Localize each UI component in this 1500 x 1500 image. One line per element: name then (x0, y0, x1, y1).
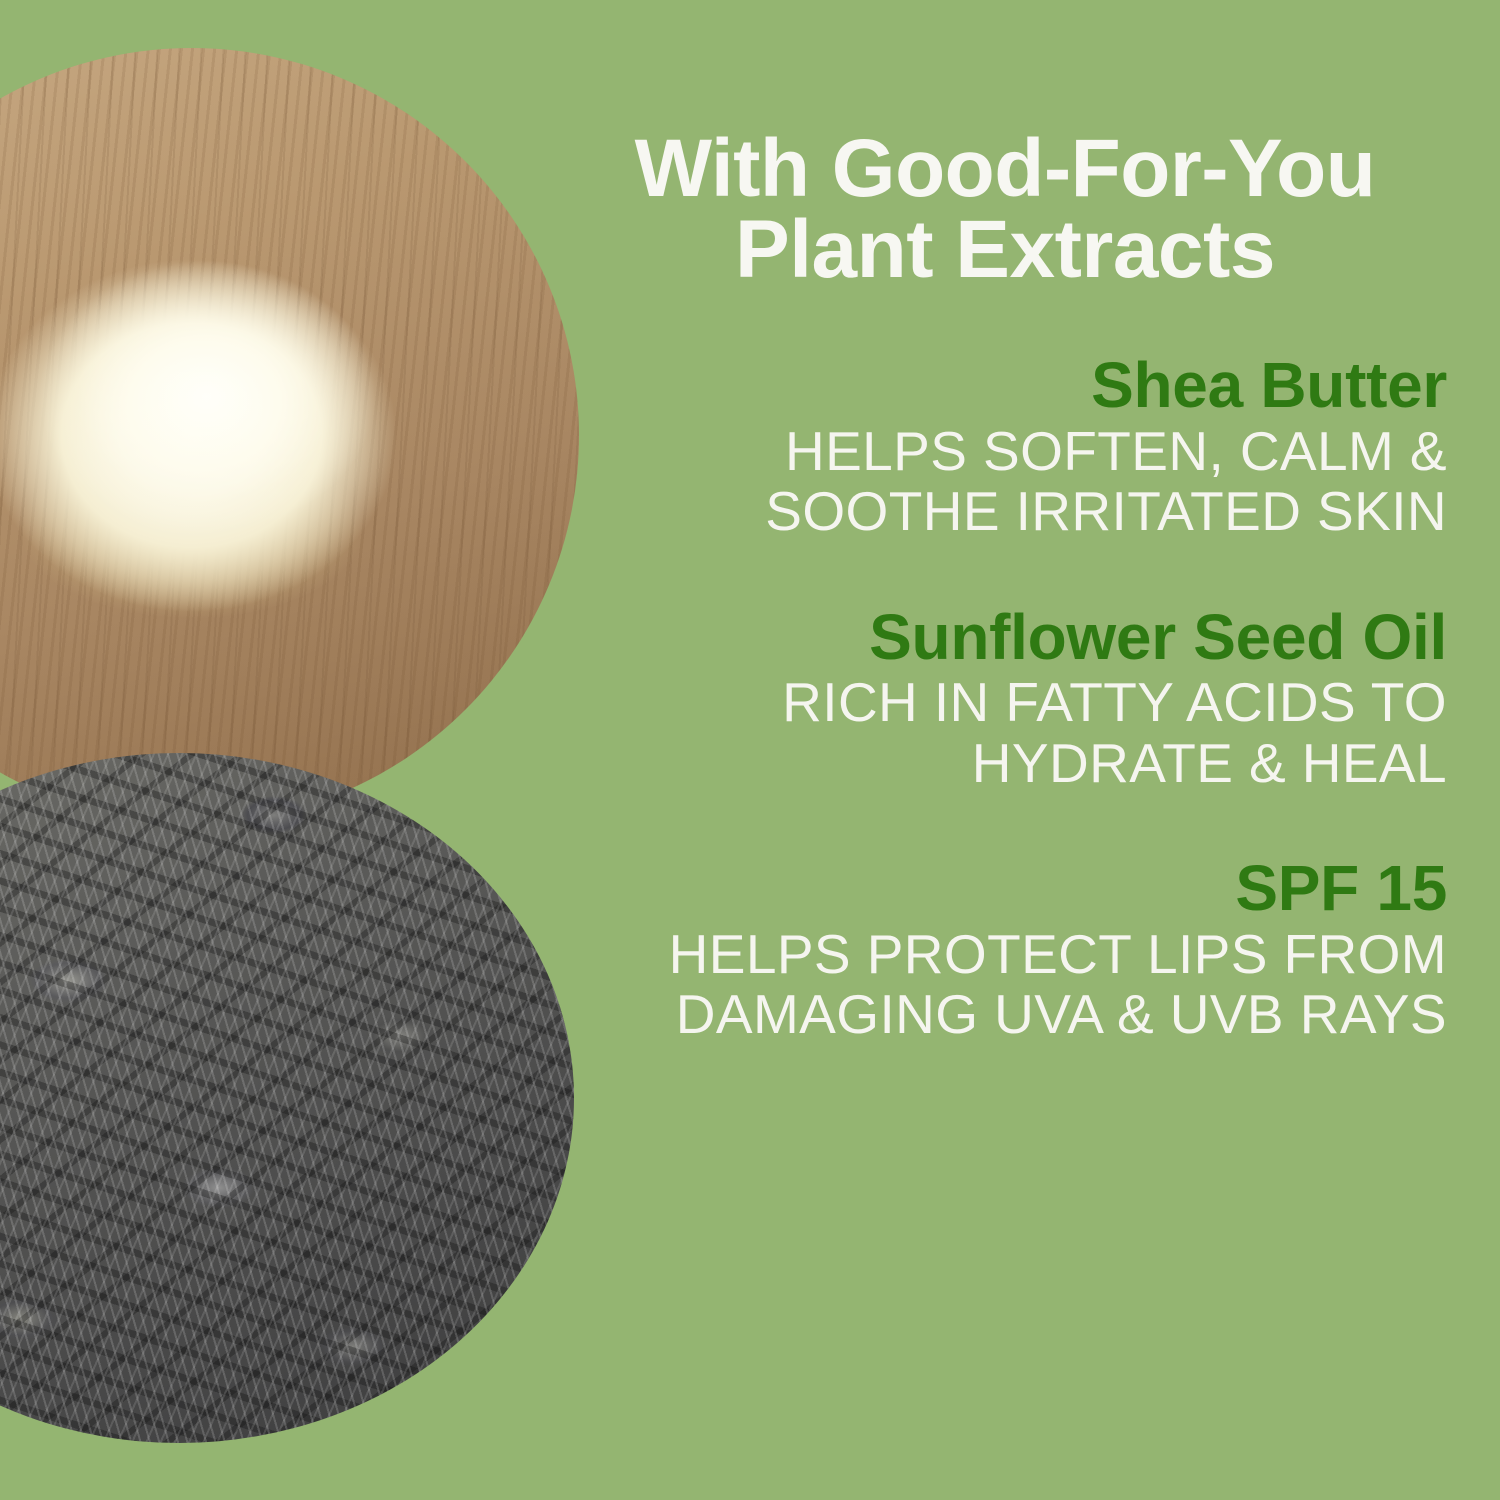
page-title-line-2: Plant Extracts (735, 204, 1275, 295)
benefit-title-spf-15: SPF 15 (567, 855, 1447, 922)
benefit-item-spf-15: SPF 15 HELPS PROTECT LIPS FROM DAMAGING … (567, 855, 1447, 1045)
benefit-description-line-2: SOOTHE IRRITATED SKIN (567, 481, 1447, 542)
benefit-description-sunflower-seed-oil: RICH IN FATTY ACIDS TO HYDRATE & HEAL (567, 672, 1447, 793)
page-title-line-1: With Good-For-You (635, 123, 1376, 214)
shea-butter-photo (0, 48, 579, 823)
benefit-description-line-1: HELPS SOFTEN, CALM & (567, 421, 1447, 482)
product-benefits-infographic: With Good-For-YouPlant Extracts Shea But… (0, 0, 1500, 1500)
benefits-copy-column: With Good-For-YouPlant Extracts Shea But… (567, 0, 1447, 1045)
benefit-description-line-2: HYDRATE & HEAL (567, 733, 1447, 794)
benefit-item-shea-butter: Shea Butter HELPS SOFTEN, CALM & SOOTHE … (567, 352, 1447, 542)
benefit-description-shea-butter: HELPS SOFTEN, CALM & SOOTHE IRRITATED SK… (567, 421, 1447, 542)
benefit-description-line-1: HELPS PROTECT LIPS FROM (567, 924, 1447, 985)
benefit-title-sunflower-seed-oil: Sunflower Seed Oil (567, 604, 1447, 671)
benefit-item-sunflower-seed-oil: Sunflower Seed Oil RICH IN FATTY ACIDS T… (567, 604, 1447, 794)
benefit-title-shea-butter: Shea Butter (567, 352, 1447, 419)
benefit-description-spf-15: HELPS PROTECT LIPS FROM DAMAGING UVA & U… (567, 924, 1447, 1045)
page-title: With Good-For-YouPlant Extracts (567, 0, 1447, 290)
benefit-description-line-1: RICH IN FATTY ACIDS TO (567, 672, 1447, 733)
sunflower-seeds-photo (0, 753, 574, 1443)
benefit-description-line-2: DAMAGING UVA & UVB RAYS (567, 984, 1447, 1045)
